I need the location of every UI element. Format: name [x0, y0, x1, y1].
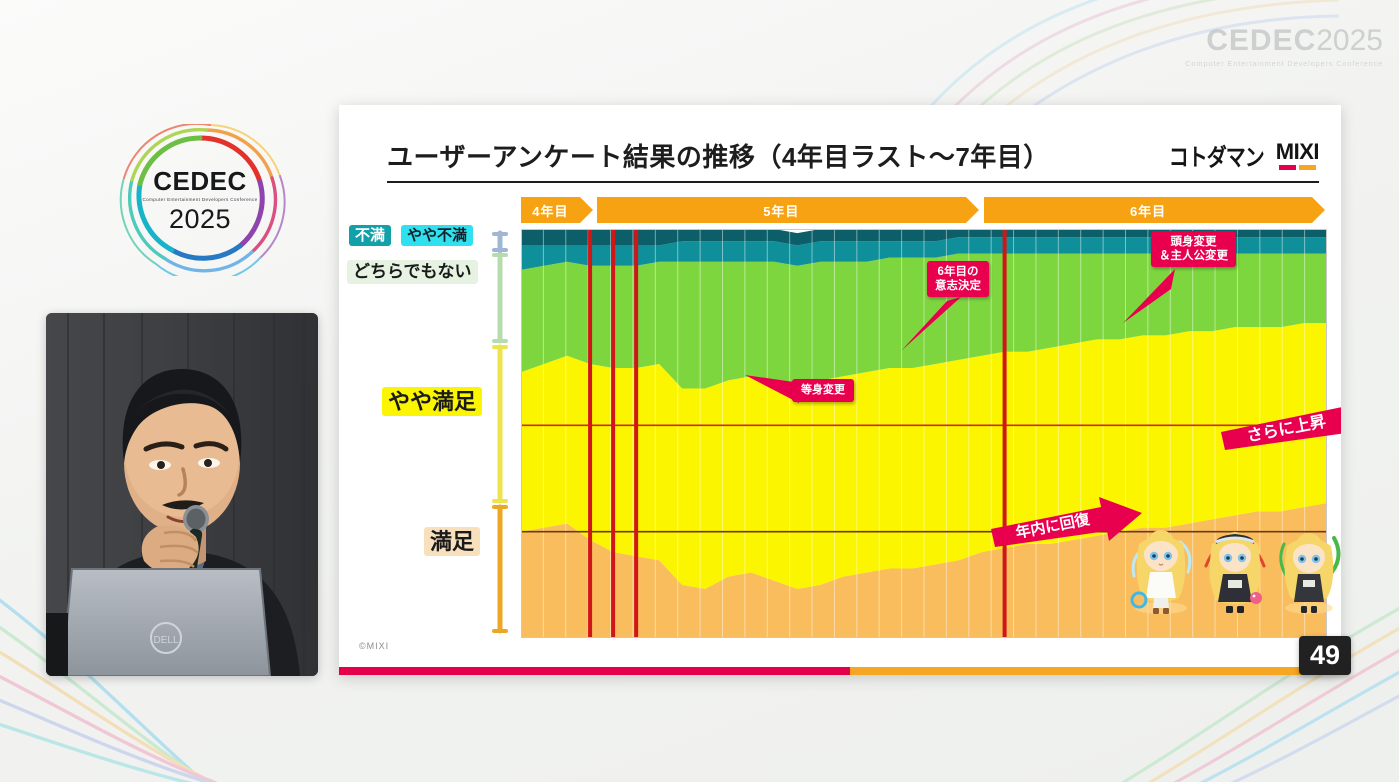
- mixi-wordmark: MIXI: [1276, 141, 1319, 163]
- year-ribbon: 4年目 5年目 6年目: [521, 197, 1327, 223]
- mixi-underline-bars: [1279, 165, 1316, 170]
- axis-bracket-column: [492, 229, 508, 638]
- slide-copyright: ©MIXI: [359, 641, 389, 651]
- year-chip-4: 4年目: [521, 197, 580, 223]
- brand-lockup: コトダマン MIXI: [1169, 141, 1319, 170]
- title-divider: [387, 181, 1319, 183]
- arrow-callout-sarani-jousho: さらに上昇: [1219, 392, 1341, 454]
- page-number-badge: 49: [1299, 636, 1351, 675]
- callout-ishi-kettei: 6年目の意志決定: [927, 261, 989, 297]
- callout-tail-ishi-kettei: [899, 293, 969, 353]
- year-chip-6: 6年目: [984, 197, 1313, 223]
- axis-label-yaya-manzoku: やや満足: [382, 387, 482, 416]
- cedec-corner-wordmark: CEDEC2025: [1175, 26, 1383, 56]
- axis-label-fuman: 不満: [349, 225, 391, 246]
- slide-footer-accent-bar: [339, 667, 1341, 675]
- callout-zushin-shujinkou-henkou: 頭身変更＆主人公変更: [1151, 231, 1236, 267]
- cedec-corner-logo: CEDEC2025 Computer Entertainment Develop…: [1175, 26, 1383, 68]
- callout-tail-zushin: [1121, 267, 1181, 327]
- presentation-slide: ユーザーアンケート結果の推移（4年目ラスト〜7年目） コトダマン MIXI 4年…: [339, 105, 1341, 675]
- speaker-camera-feed: DELL: [46, 313, 318, 676]
- cedec-round-logo: CEDEC Computer Entertainment Developers …: [110, 124, 290, 276]
- arrow-callout-nennai-kaifuku: 年内に回復: [989, 495, 1144, 549]
- axis-label-dochira-demo-nai: どちらでもない: [347, 260, 478, 284]
- svg-text:DELL: DELL: [153, 635, 178, 646]
- broadcast-stage: CEDEC2025 Computer Entertainment Develop…: [0, 0, 1399, 782]
- slide-title: ユーザーアンケート結果の推移（4年目ラスト〜7年目）: [387, 137, 1050, 174]
- cedec-corner-subtitle: Computer Entertainment Developers Confer…: [1175, 59, 1383, 68]
- chibi-character-green-vines: [1276, 524, 1341, 616]
- kotodaman-logo: コトダマン: [1169, 138, 1264, 172]
- callout-toushin-henkou: 等身変更: [792, 379, 854, 402]
- chibi-character-black-dress: [1202, 524, 1268, 616]
- axis-label-yaya-fuman: やや不満: [401, 225, 473, 246]
- mixi-logo: MIXI: [1276, 141, 1319, 170]
- cedec-ring-graphic: [110, 124, 290, 276]
- axis-label-manzoku: 満足: [424, 527, 480, 556]
- speaker-portrait: DELL: [46, 313, 318, 676]
- year-chip-5: 5年目: [597, 197, 966, 223]
- character-thumbnail-row: [1128, 521, 1341, 616]
